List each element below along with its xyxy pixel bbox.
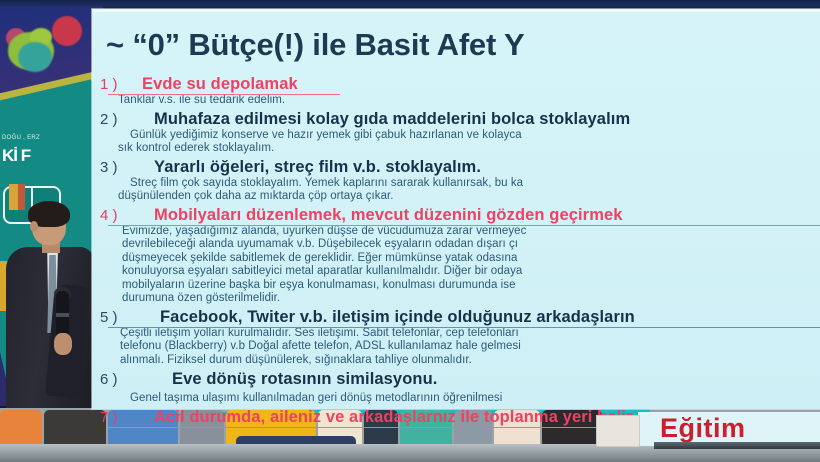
audience-person bbox=[0, 410, 42, 446]
item-underline bbox=[108, 225, 820, 226]
item-subtext: Tanklar v.s. ile su tedarik edelim. bbox=[100, 94, 820, 108]
item-subtext: Streç film çok sayıda stoklayalım. Yemek… bbox=[100, 177, 820, 191]
slide-top-highlight bbox=[92, 9, 820, 12]
item-subtext: devrilebileceği alanda uyumamak v.b. Düş… bbox=[100, 238, 820, 252]
item-number: 5 ) bbox=[100, 309, 142, 326]
slide-title: ~ “0” Bütçe(!) ile Basit Afet Y bbox=[106, 27, 524, 63]
item-heading: Acil durumda, aileniz ve arkadaşlarnız i… bbox=[142, 408, 632, 426]
list-item: 4 )Mobilyaları düzenlemek, mevcut düzeni… bbox=[100, 206, 820, 225]
list-item: 1 )Evde su depolamak bbox=[100, 75, 820, 94]
item-subtext: mobilyaların üzerine başka bir eşya konu… bbox=[100, 279, 820, 293]
item-subtext: sık kontrol ederek stoklayalım. bbox=[100, 142, 820, 156]
speaker-ear bbox=[30, 221, 38, 232]
item-subtext: durumuna özen gösterilmelidir. bbox=[100, 292, 820, 306]
item-subtext: düşmeyecek şekilde sabitlemek de gerekli… bbox=[100, 252, 820, 266]
banner-red-circle bbox=[52, 16, 82, 46]
item-number: 1 ) bbox=[100, 76, 142, 93]
audience-person bbox=[44, 410, 106, 446]
item-number: 7 ) bbox=[100, 409, 142, 426]
microphone-band bbox=[56, 313, 69, 317]
item-number: 2 ) bbox=[100, 111, 142, 128]
item-heading: Mobilyaları düzenlemek, mevcut düzenini … bbox=[142, 206, 623, 224]
item-subtext: Evimizde, yaşadığımız alanda, uyurken dü… bbox=[100, 225, 820, 239]
item-heading: Muhafaza edilmesi kolay gıda maddelerini… bbox=[142, 110, 630, 128]
projected-slide: ~ “0” Bütçe(!) ile Basit Afet Y 1 )Evde … bbox=[92, 9, 820, 409]
item-heading: Eve dönüş rotasının similasyonu. bbox=[142, 370, 437, 388]
item-heading: Evde su depolamak bbox=[142, 75, 298, 93]
list-item: 6 )Eve dönüş rotasının similasyonu. bbox=[100, 370, 820, 389]
item-number: 6 ) bbox=[100, 371, 142, 388]
list-item: 5 )Facebook, Twiter v.b. iletişim içinde… bbox=[100, 308, 820, 327]
item-subtext: Günlük yediğimiz konserve ve hazır yemek… bbox=[100, 129, 820, 143]
egitim-label: Eğitim bbox=[660, 413, 746, 444]
item-underline bbox=[108, 94, 340, 95]
item-subtext: düşünülenden çok daha az mıktarda çöp or… bbox=[100, 190, 820, 204]
banner-big-text: Kİ F bbox=[2, 148, 30, 164]
item-subtext: Genel taşıma ulaşımı kullanılmadan geri … bbox=[100, 392, 820, 406]
speaker-hand bbox=[54, 333, 72, 355]
podium-card bbox=[596, 415, 640, 447]
item-heading: Yararlı öğeleri, streç film v.b. stoklay… bbox=[142, 158, 481, 176]
item-subtext: Çeşitli iletişim yolları kurulmalıdır. S… bbox=[100, 327, 820, 341]
item-heading: Facebook, Twiter v.b. iletişim içinde ol… bbox=[142, 308, 635, 326]
item-underline bbox=[108, 327, 820, 328]
item-subtext: alınmalı. Fiziksel durum düşünülerek, sı… bbox=[100, 354, 820, 368]
slide-list: 1 )Evde su depolamak Tanklar v.s. ile su… bbox=[100, 75, 820, 427]
item-number: 4 ) bbox=[100, 207, 142, 224]
speaker-person bbox=[6, 205, 98, 410]
item-subtext: konuluyorsa eşyaları sabitleyici metal a… bbox=[100, 265, 820, 279]
item-number: 3 ) bbox=[100, 159, 142, 176]
egitim-underbar bbox=[654, 442, 820, 449]
banner-small-text: DOĞU , ERZ bbox=[2, 134, 62, 142]
item-subtext: telefonu (Blackberry) v.b Doğal afette t… bbox=[100, 340, 820, 354]
list-item: 2 )Muhafaza edilmesi kolay gıda maddeler… bbox=[100, 110, 820, 129]
list-item: 3 )Yararlı öğeleri, streç film v.b. stok… bbox=[100, 158, 820, 177]
banner-teal-blob bbox=[18, 42, 52, 72]
screenshot-stage: DOĞU , ERZ Kİ F ~ “0” Bütç bbox=[0, 0, 820, 462]
